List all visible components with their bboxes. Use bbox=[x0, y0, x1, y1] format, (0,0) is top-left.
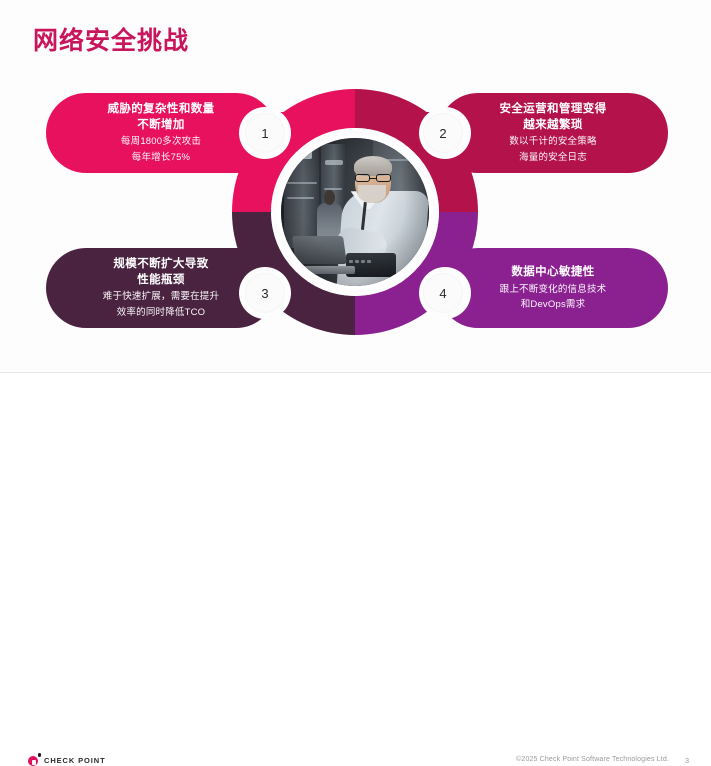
callout-heading-4-line1: 数据中心敏捷性 bbox=[511, 265, 594, 281]
photo-scene bbox=[281, 138, 429, 286]
check-point-logo-icon bbox=[28, 754, 40, 766]
callout-sub-4-line2: 和DevOps需求 bbox=[521, 298, 586, 311]
page-title: 网络安全挑战 bbox=[33, 21, 189, 57]
callout-heading-2-line1: 安全运营和管理变得 bbox=[499, 102, 606, 118]
callout-sub-1-line2: 每年增长75% bbox=[132, 151, 190, 164]
callout-sub-4-line1: 跟上不断变化的信息技术 bbox=[500, 283, 607, 296]
callout-heading-1-line1: 威胁的复杂性和数量 bbox=[107, 102, 214, 118]
callout-sub-2-line1: 数以千计的安全策略 bbox=[509, 135, 596, 148]
callout-heading-1-line2: 不断增加 bbox=[137, 118, 185, 134]
callout-sub-2-line2: 海量的安全日志 bbox=[519, 151, 587, 164]
callout-sub-3-line2: 效率的同时降低TCO bbox=[117, 306, 206, 319]
callout-heading-3-line2: 性能瓶颈 bbox=[137, 273, 185, 289]
step-number-badge-2[interactable]: 2 bbox=[424, 114, 462, 152]
callout-sub-1-line1: 每周1800多次攻击 bbox=[121, 135, 201, 148]
slide-canvas: 网络安全挑战 威胁的复杂性和数量 不断增加 每周1800多次攻击 每年增长75%… bbox=[0, 0, 711, 400]
step-number-badge-4[interactable]: 4 bbox=[424, 274, 462, 312]
step-number-badge-1[interactable]: 1 bbox=[246, 114, 284, 152]
callout-heading-2-line2: 越来越繁琐 bbox=[523, 118, 583, 134]
callout-heading-3-line1: 规模不断扩大导致 bbox=[113, 257, 208, 273]
logo-wordmark: CHECK POINT bbox=[44, 756, 106, 765]
copyright-text: ©2025 Check Point Software Technologies … bbox=[516, 756, 669, 763]
callout-sub-3-line1: 难于快速扩展，需要在提升 bbox=[103, 290, 219, 303]
page-number: 3 bbox=[685, 756, 689, 765]
slide-footer: CHECK POINT ©2025 Check Point Software T… bbox=[0, 373, 711, 400]
check-point-logo: CHECK POINT bbox=[28, 754, 106, 766]
step-number-badge-3[interactable]: 3 bbox=[246, 274, 284, 312]
center-photo bbox=[277, 134, 433, 290]
